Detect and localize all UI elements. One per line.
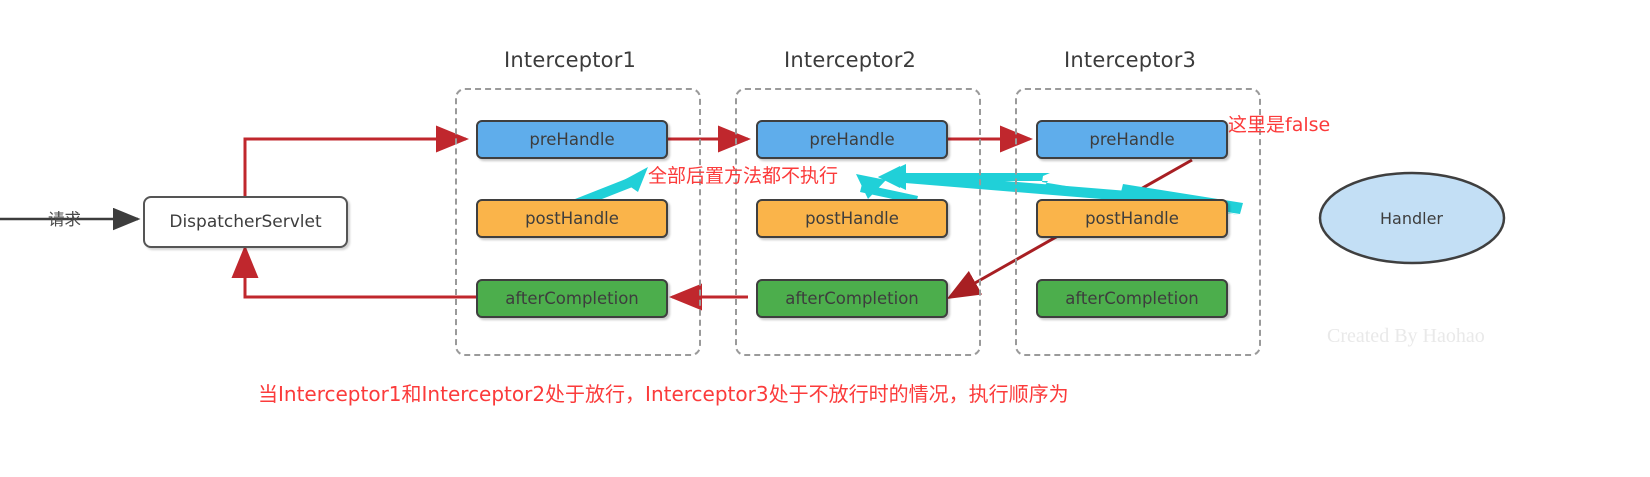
interceptor2-aftercompletion-label: afterCompletion (785, 289, 919, 308)
interceptor2-posthandle-label: postHandle (805, 209, 899, 228)
interceptor3-aftercompletion-label: afterCompletion (1065, 289, 1199, 308)
dispatcher-servlet-node[interactable]: DispatcherServlet (143, 196, 348, 248)
interceptor1-prehandle[interactable]: preHandle (476, 120, 668, 159)
interceptor3-prehandle[interactable]: preHandle (1036, 120, 1228, 159)
interceptor3-prehandle-label: preHandle (1089, 130, 1174, 149)
interceptor2-posthandle[interactable]: postHandle (756, 199, 948, 238)
diagram-caption: 当Interceptor1和Interceptor2处于放行，Intercept… (258, 378, 1069, 407)
request-label: 请求 (48, 206, 81, 230)
interceptor1-title: Interceptor1 (504, 48, 636, 72)
dispatcher-servlet-label: DispatcherServlet (169, 212, 321, 232)
diagram-canvas: 请求 DispatcherServlet Interceptor1 preHan… (0, 0, 1650, 477)
interceptor2-prehandle[interactable]: preHandle (756, 120, 948, 159)
interceptor1-posthandle-label: postHandle (525, 209, 619, 228)
handler-label: Handler (1380, 209, 1443, 228)
flow-after1-to-servlet (245, 248, 478, 297)
cyan-annotation-text: 全部后置方法都不执行 (648, 161, 838, 188)
interceptor1-aftercompletion-label: afterCompletion (505, 289, 639, 308)
interceptor2-aftercompletion[interactable]: afterCompletion (756, 279, 948, 318)
interceptor1-prehandle-label: preHandle (529, 130, 614, 149)
interceptor3-aftercompletion[interactable]: afterCompletion (1036, 279, 1228, 318)
flow-servlet-to-pre1 (245, 139, 466, 196)
interceptor3-posthandle-label: postHandle (1085, 209, 1179, 228)
interceptor1-posthandle[interactable]: postHandle (476, 199, 668, 238)
interceptor2-prehandle-label: preHandle (809, 130, 894, 149)
interceptor3-posthandle[interactable]: postHandle (1036, 199, 1228, 238)
false-annotation: 这里是false (1228, 110, 1330, 137)
watermark: Created By Haohao (1327, 325, 1485, 348)
interceptor1-aftercompletion[interactable]: afterCompletion (476, 279, 668, 318)
interceptor3-title: Interceptor3 (1064, 48, 1196, 72)
interceptor2-title: Interceptor2 (784, 48, 916, 72)
